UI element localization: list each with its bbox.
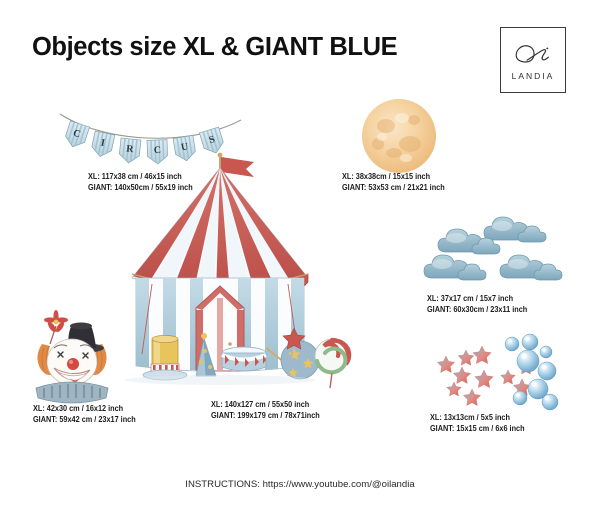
clown-illustration — [18, 304, 130, 404]
clown-xl-size: XL: 42x30 cm / 16x12 inch — [33, 403, 136, 414]
size-caption-stars: XL: 13x13cm / 5x5 inch GIANT: 15x15 cm /… — [430, 412, 525, 435]
bunting-xl-size: XL: 117x38 cm / 46x15 inch — [88, 171, 193, 182]
size-caption-tent: XL: 140x127 cm / 55x50 inch GIANT: 199x1… — [211, 399, 320, 422]
clouds-giant-size: GIANT: 60x30cm / 23x11 inch — [427, 304, 527, 315]
bunting-giant-size: GIANT: 140x50cm / 55x19 inch — [88, 182, 193, 193]
stars-bubbles-illustration — [424, 334, 600, 412]
clown-collar — [36, 382, 108, 403]
clouds-illustration — [424, 214, 599, 292]
brand-logo: LANDIA — [500, 27, 566, 93]
moon-giant-size: GIANT: 53x53 cm / 21x21 inch — [342, 182, 445, 193]
swirl-lollipop-prop — [315, 339, 349, 388]
page-title: Objects size XL & GIANT BLUE — [32, 33, 397, 62]
logo-wordmark: LANDIA — [512, 71, 555, 81]
tent-xl-size: XL: 140x127 cm / 55x50 inch — [211, 399, 320, 410]
moon-illustration — [358, 96, 440, 176]
size-caption-clouds: XL: 37x17 cm / 15x7 inch GIANT: 60x30cm … — [427, 293, 527, 316]
clown-giant-size: GIANT: 59x42 cm / 23x17 inch — [33, 414, 136, 425]
clown-flower-icon — [44, 310, 68, 344]
size-caption-clown: XL: 42x30 cm / 16x12 inch GIANT: 59x42 c… — [33, 403, 136, 426]
moon-xl-size: XL: 38x38cm / 15x15 inch — [342, 171, 445, 182]
oi-monogram-icon — [511, 40, 555, 70]
size-caption-moon: XL: 38x38cm / 15x15 inch GIANT: 53x53 cm… — [342, 171, 445, 194]
instructions-link[interactable]: INSTRUCTIONS: https://www.youtube.com/@o… — [0, 479, 600, 490]
stars-giant-size: GIANT: 15x15 cm / 6x6 inch — [430, 423, 525, 434]
clouds-xl-size: XL: 37x17 cm / 15x7 inch — [427, 293, 527, 304]
tent-giant-size: GIANT: 199x179 cm / 78x71inch — [211, 410, 320, 421]
poster-canvas: Objects size XL & GIANT BLUE LANDIA C — [0, 0, 600, 505]
stars-xl-size: XL: 13x13cm / 5x5 inch — [430, 412, 525, 423]
size-caption-bunting: XL: 117x38 cm / 46x15 inch GIANT: 140x50… — [88, 171, 193, 194]
